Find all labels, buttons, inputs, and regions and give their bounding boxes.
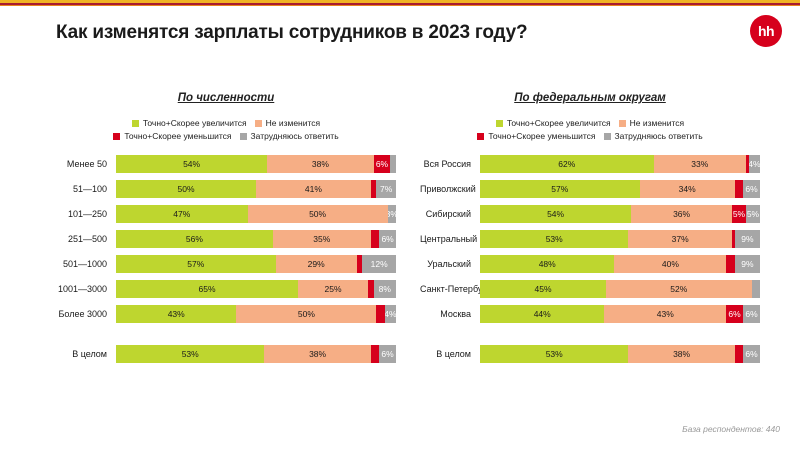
bar-segment[interactable]: 8%: [374, 280, 396, 298]
legend-row: Точно+Скорее уменьшитсяЗатрудняюсь ответ…: [445, 131, 735, 141]
bar-segment[interactable]: [376, 305, 384, 323]
legend-item-label: Точно+Скорее уменьшится: [124, 131, 231, 141]
bar-segment[interactable]: 38%: [628, 345, 734, 363]
square-swatch-icon: [496, 120, 503, 127]
bar-segment[interactable]: 38%: [267, 155, 373, 173]
bar-row-label: 51—100: [56, 184, 116, 194]
bar-segment[interactable]: 9%: [735, 255, 760, 273]
legend-item-label: Не изменится: [266, 118, 321, 128]
bar-row-label: В целом: [420, 349, 480, 359]
bar-row-label: В целом: [56, 349, 116, 359]
hh-logo: hh: [750, 15, 782, 47]
bar-row: Менее 5054%38%6%: [56, 155, 396, 173]
bar-segment[interactable]: 5%: [746, 205, 760, 223]
bar-row: Санкт-Петербург45%52%: [420, 280, 760, 298]
stacked-bar: 54%36%5%5%: [480, 205, 760, 223]
bar-segment[interactable]: [752, 280, 760, 298]
legend-item[interactable]: Точно+Скорее увеличится: [496, 118, 611, 128]
bar-row: 51—10050%41%7%: [56, 180, 396, 198]
bar-row: Москва44%43%6%6%: [420, 305, 760, 323]
bar-segment[interactable]: [390, 155, 396, 173]
square-swatch-icon: [255, 120, 262, 127]
bar-segment[interactable]: 47%: [116, 205, 248, 223]
bar-segment[interactable]: 4%: [749, 155, 760, 173]
bar-row: Центральный53%37%9%: [420, 230, 760, 248]
bar-segment[interactable]: 50%: [248, 205, 388, 223]
stacked-bar: 48%40%9%: [480, 255, 760, 273]
bar-segment[interactable]: 53%: [480, 345, 628, 363]
legend-item[interactable]: Точно+Скорее увеличится: [132, 118, 247, 128]
bar-segment[interactable]: 52%: [606, 280, 752, 298]
bar-segment[interactable]: 53%: [480, 230, 628, 248]
chart-panel-by-federal-district: По федеральным округам Точно+Скорее увел…: [420, 92, 760, 370]
square-swatch-icon: [604, 133, 611, 140]
legend-item[interactable]: Затрудняюсь ответить: [604, 131, 703, 141]
stacked-bar: 45%52%: [480, 280, 760, 298]
bar-segment[interactable]: [735, 345, 743, 363]
legend-item[interactable]: Затрудняюсь ответить: [240, 131, 339, 141]
bar-row-label: 101—250: [56, 209, 116, 219]
bar-segment[interactable]: 3%: [388, 205, 396, 223]
bar-segment[interactable]: 7%: [376, 180, 396, 198]
square-swatch-icon: [477, 133, 484, 140]
bar-segment[interactable]: [726, 255, 734, 273]
stacked-bar: 43%50%4%: [116, 305, 396, 323]
top-border-orange-band: [0, 5, 800, 6]
slide-canvas: hh Как изменятся зарплаты сотрудников в …: [0, 0, 800, 450]
legend-item-label: Затрудняюсь ответить: [251, 131, 339, 141]
bar-segment[interactable]: 9%: [735, 230, 760, 248]
bar-segment[interactable]: 25%: [298, 280, 368, 298]
chart-panel-by-headcount: По численности Точно+Скорее увеличитсяНе…: [56, 92, 396, 370]
bar-row: 1001—300065%25%8%: [56, 280, 396, 298]
bar-row: Вся Россия62%33%4%: [420, 155, 760, 173]
bar-segment[interactable]: 37%: [628, 230, 732, 248]
stacked-bar: 62%33%4%: [480, 155, 760, 173]
bar-segment[interactable]: 43%: [604, 305, 726, 323]
stacked-bar: 57%34%6%: [480, 180, 760, 198]
stacked-bar: 44%43%6%6%: [480, 305, 760, 323]
stacked-bar: 54%38%6%: [116, 155, 396, 173]
bar-segment[interactable]: 33%: [654, 155, 746, 173]
bar-segment[interactable]: 65%: [116, 280, 298, 298]
bar-segment[interactable]: 56%: [116, 230, 273, 248]
bar-segment[interactable]: 34%: [640, 180, 735, 198]
bar-segment[interactable]: 6%: [743, 305, 760, 323]
bar-segment[interactable]: 41%: [256, 180, 371, 198]
bar-segment[interactable]: 54%: [480, 205, 631, 223]
bar-row-label: Уральский: [420, 259, 480, 269]
bar-segment[interactable]: 6%: [379, 230, 396, 248]
bar-segment[interactable]: 57%: [480, 180, 640, 198]
bar-segment[interactable]: 40%: [614, 255, 726, 273]
respondent-base-note: База респондентов: 440: [682, 424, 780, 434]
slide-title: Как изменятся зарплаты сотрудников в 202…: [56, 22, 527, 44]
bar-segment[interactable]: [735, 180, 743, 198]
bar-row-label: 501—1000: [56, 259, 116, 269]
legend-item-label: Не изменится: [630, 118, 685, 128]
legend-item[interactable]: Точно+Скорее уменьшится: [113, 131, 231, 141]
legend-item[interactable]: Не изменится: [255, 118, 321, 128]
bar-segment[interactable]: 29%: [276, 255, 357, 273]
stacked-bar: 47%50%3%: [116, 205, 396, 223]
legend-item[interactable]: Точно+Скорее уменьшится: [477, 131, 595, 141]
bar-segment[interactable]: 48%: [480, 255, 614, 273]
stacked-bar: 50%41%7%: [116, 180, 396, 198]
bar-rows-by-federal-district: Вся Россия62%33%4%Приволжский57%34%6%Сиб…: [420, 155, 760, 363]
legend-item-label: Точно+Скорее увеличится: [507, 118, 611, 128]
stacked-bar: 53%37%9%: [480, 230, 760, 248]
bar-segment[interactable]: 45%: [480, 280, 606, 298]
legend-row: Точно+Скорее увеличитсяНе изменится: [81, 118, 371, 128]
bar-segment[interactable]: [371, 230, 379, 248]
bar-segment[interactable]: 54%: [116, 155, 267, 173]
panel-title-by-federal-district: По федеральным округам: [420, 92, 760, 104]
bar-row: Приволжский57%34%6%: [420, 180, 760, 198]
bar-row-label: Москва: [420, 309, 480, 319]
bar-segment[interactable]: 62%: [480, 155, 654, 173]
square-swatch-icon: [619, 120, 626, 127]
bar-segment[interactable]: 50%: [116, 180, 256, 198]
bar-row-label: Санкт-Петербург: [420, 284, 480, 294]
stacked-bar: 65%25%8%: [116, 280, 396, 298]
decorative-top-border: [0, 0, 800, 6]
legend-item[interactable]: Не изменится: [619, 118, 685, 128]
panel-title-by-headcount: По численности: [56, 92, 396, 104]
bar-row-label: Вся Россия: [420, 159, 480, 169]
bar-segment[interactable]: 5%: [732, 205, 746, 223]
bar-segment[interactable]: 6%: [743, 180, 760, 198]
stacked-bar: 53%38%6%: [116, 345, 396, 363]
stacked-bar: 57%29%12%: [116, 255, 396, 273]
square-swatch-icon: [132, 120, 139, 127]
bar-row-label: Более 3000: [56, 309, 116, 319]
bar-row-label: Менее 50: [56, 159, 116, 169]
stacked-bar: 53%38%6%: [480, 345, 760, 363]
square-swatch-icon: [113, 133, 120, 140]
bar-segment[interactable]: 50%: [236, 305, 376, 323]
legend-row: Точно+Скорее уменьшитсяЗатрудняюсь ответ…: [81, 131, 371, 141]
legend-by-headcount: Точно+Скорее увеличитсяНе изменитсяТочно…: [81, 118, 371, 141]
hh-logo-text: hh: [758, 23, 774, 39]
bar-row: В целом53%38%6%: [420, 345, 760, 363]
square-swatch-icon: [240, 133, 247, 140]
bar-segment[interactable]: 35%: [273, 230, 371, 248]
bar-segment[interactable]: 53%: [116, 345, 264, 363]
bar-segment[interactable]: 6%: [726, 305, 743, 323]
stacked-bar: 56%35%6%: [116, 230, 396, 248]
bar-segment[interactable]: 57%: [116, 255, 276, 273]
bar-segment[interactable]: [371, 345, 379, 363]
bar-segment[interactable]: 44%: [480, 305, 604, 323]
bar-row: 101—25047%50%3%: [56, 205, 396, 223]
bar-row: В целом53%38%6%: [56, 345, 396, 363]
bar-segment[interactable]: 4%: [385, 305, 396, 323]
bar-row: 251—50056%35%6%: [56, 230, 396, 248]
bar-row-label: Центральный: [420, 234, 480, 244]
legend-row: Точно+Скорее увеличитсяНе изменится: [445, 118, 735, 128]
bar-row-label: Приволжский: [420, 184, 480, 194]
bar-row: 501—100057%29%12%: [56, 255, 396, 273]
bar-row: Уральский48%40%9%: [420, 255, 760, 273]
bar-segment[interactable]: 12%: [362, 255, 396, 273]
bar-row-label: Сибирский: [420, 209, 480, 219]
bar-row-label: 1001—3000: [56, 284, 116, 294]
bar-segment[interactable]: 38%: [264, 345, 370, 363]
bar-row: Более 300043%50%4%: [56, 305, 396, 323]
bar-row-label: 251—500: [56, 234, 116, 244]
bar-segment[interactable]: 6%: [379, 345, 396, 363]
legend-item-label: Затрудняюсь ответить: [615, 131, 703, 141]
bar-segment[interactable]: 43%: [116, 305, 236, 323]
legend-item-label: Точно+Скорее увеличится: [143, 118, 247, 128]
bar-segment[interactable]: 36%: [631, 205, 732, 223]
bar-rows-by-headcount: Менее 5054%38%6%51—10050%41%7%101—25047%…: [56, 155, 396, 363]
legend-by-federal-district: Точно+Скорее увеличитсяНе изменитсяТочно…: [445, 118, 735, 141]
bar-segment[interactable]: 6%: [743, 345, 760, 363]
legend-item-label: Точно+Скорее уменьшится: [488, 131, 595, 141]
bar-segment[interactable]: 6%: [374, 155, 391, 173]
bar-row: Сибирский54%36%5%5%: [420, 205, 760, 223]
